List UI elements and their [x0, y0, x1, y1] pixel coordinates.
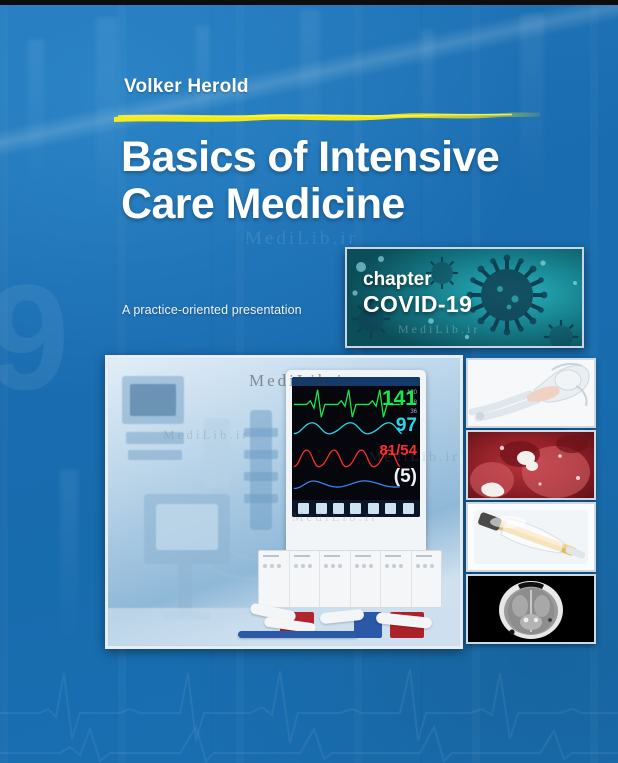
covid-badge-text: chapter COVID-19 [363, 269, 472, 317]
page-title: Basics of Intensive Care Medicine [121, 134, 561, 229]
thumbnail-strip [466, 358, 592, 643]
monitor-respiration: (5) [379, 467, 417, 486]
cover-subtitle: A practice-oriented presentation [122, 303, 302, 317]
monitor-softkey[interactable] [316, 503, 327, 514]
thumbnail-head-ct-scan [466, 574, 596, 644]
yellow-brushstroke [112, 104, 542, 128]
monitor-softkey[interactable] [333, 503, 344, 514]
title-line-1: Basics of Intensive [121, 133, 499, 181]
monitor-softkey[interactable] [385, 503, 396, 514]
background-ecg-trace [0, 643, 618, 763]
endoscopic-view-illustration [468, 432, 594, 498]
main-photo-icu: 120 8 36 141 97 81/54 (5) [105, 355, 463, 649]
author-name: Volker Herold [124, 76, 249, 98]
covid-badge-line-1: chapter [363, 269, 472, 291]
thumbnail-breathing-circuit-tubing [466, 358, 596, 428]
covid-chapter-badge: chapter COVID-19 [345, 247, 584, 348]
thumbnail-endoscopic-airway-view [466, 430, 596, 500]
pump-module[interactable] [290, 551, 321, 607]
monitor-softkey[interactable] [403, 503, 414, 514]
pump-module[interactable] [381, 551, 412, 607]
book-cover: 9 Volker Herold Basics of Intensive Care… [0, 0, 618, 763]
monitor-softkey[interactable] [368, 503, 379, 514]
pump-module[interactable] [412, 551, 442, 607]
title-line-2: Care Medicine [121, 181, 561, 228]
pump-module[interactable] [259, 551, 290, 607]
ct-scan-illustration [468, 576, 594, 642]
pump-modules [258, 550, 442, 608]
breathing-circuit-illustration [468, 360, 594, 426]
monitor-spo2: 97 [379, 416, 417, 435]
monitor-softkey[interactable] [298, 503, 309, 514]
infusion-pump-rack [258, 544, 458, 640]
pump-module[interactable] [351, 551, 382, 607]
monitor-blood-pressure: 81/54 [379, 443, 417, 458]
catheter-illustration [468, 504, 594, 570]
monitor-heart-rate: 141 [379, 388, 417, 409]
iv-line-blue [238, 631, 358, 638]
monitor-vitals: 141 97 81/54 (5) [379, 388, 417, 486]
covid-badge-line-2: COVID-19 [363, 291, 472, 317]
monitor-softkey[interactable] [350, 503, 361, 514]
pump-module[interactable] [320, 551, 351, 607]
thumbnail-balloon-catheter-device [466, 502, 596, 572]
monitor-softkey-bar[interactable] [292, 500, 420, 517]
background-digit-watermark: 9 [0, 262, 63, 412]
monitor-screen: 120 8 36 141 97 81/54 (5) [292, 377, 420, 517]
patient-monitor: 120 8 36 141 97 81/54 (5) [286, 370, 426, 560]
top-black-bar [0, 0, 618, 5]
